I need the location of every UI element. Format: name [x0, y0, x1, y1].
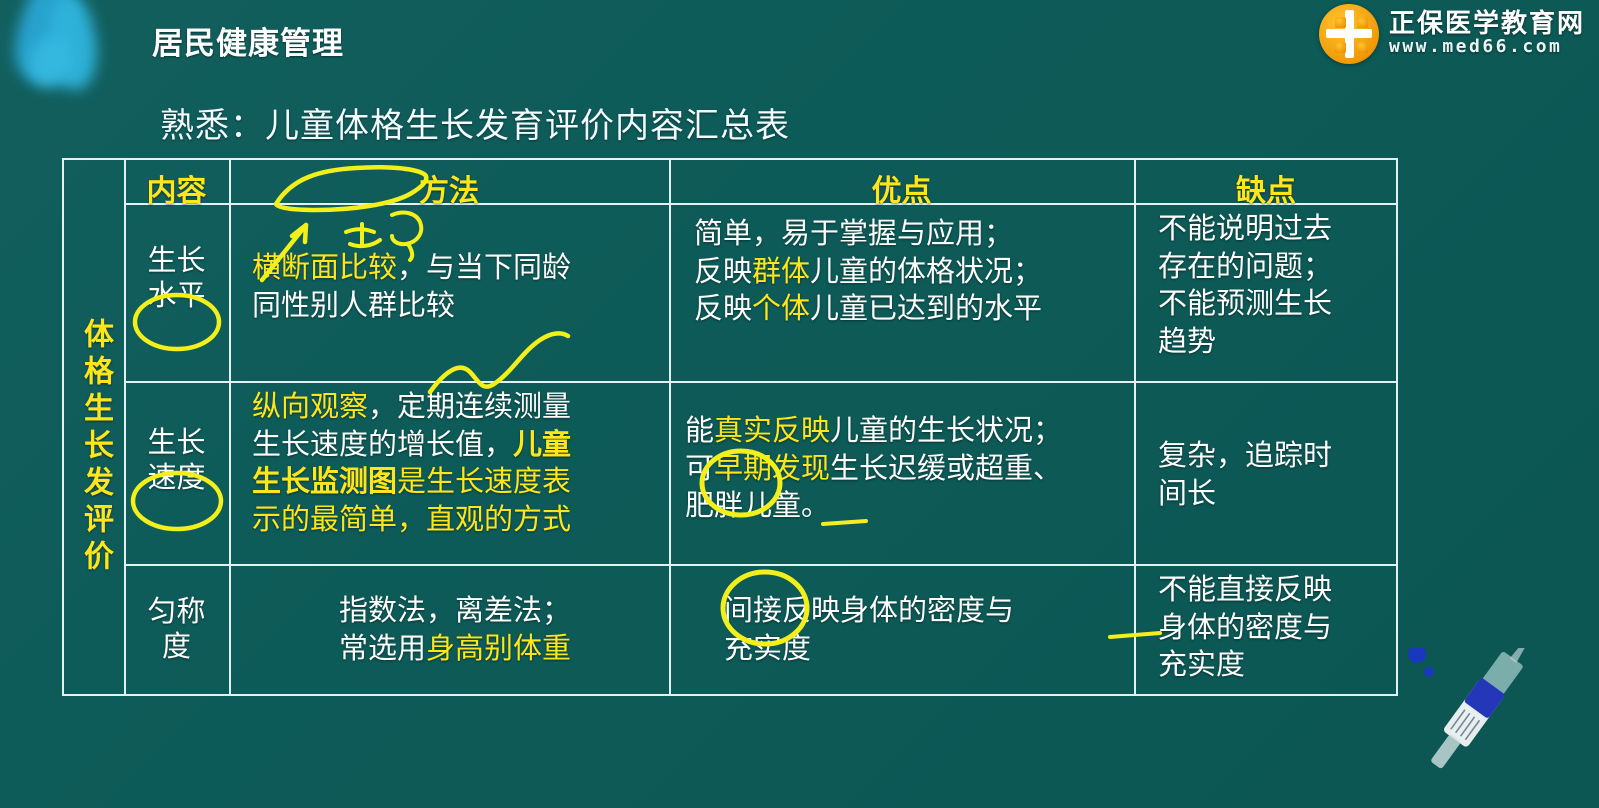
row3-m-a: 指数法，离差法； — [339, 593, 571, 627]
table-vline-2 — [229, 158, 231, 696]
row1-adv-seg: 简单，易于掌握与应用； — [694, 216, 1013, 250]
row3-method-line2: 常选用身高别体重 — [245, 630, 665, 668]
row2-a-e: 早期发现 — [714, 451, 830, 485]
row3-dis-line1: 不能直接反映 — [1158, 571, 1398, 609]
row3-content: 匀称 度 — [124, 594, 229, 665]
table-vline-4 — [1134, 158, 1136, 696]
row2-content-line2: 速度 — [124, 460, 229, 495]
row2-adv-line1: 能真实反映儿童的生长状况； — [685, 412, 1131, 450]
row2-adv-line2: 可早期发现生长迟缓或超重、 — [685, 450, 1131, 488]
row3-m-c: 身高别体重 — [426, 631, 571, 665]
row1-method-rest: ，与当下同龄 — [397, 250, 571, 284]
cross-notch-icon — [1335, 17, 1346, 28]
row2-a-d: 可 — [685, 451, 714, 485]
row1-adv-seg-f: 儿童已达到的水平 — [810, 291, 1042, 325]
row3-dis-line2: 身体的密度与 — [1158, 609, 1398, 647]
row3-method: 指数法，离差法； 常选用身高别体重 — [245, 592, 665, 667]
row1-content-line2: 水平 — [124, 278, 229, 313]
row1-content-line1: 生长 — [124, 243, 229, 278]
row2-m-g: 示的最简单，直观的方式 — [252, 502, 571, 536]
row3-content-line2: 度 — [124, 629, 229, 664]
row1-adv-seg-c: 儿童的体格状况； — [810, 254, 1042, 288]
row2-a-c: 儿童的生长状况； — [830, 413, 1062, 447]
row2-content: 生长 速度 — [124, 425, 229, 496]
row1-dis-line1: 不能说明过去 — [1158, 210, 1398, 248]
row1-adv-seg-a: 反映 — [694, 254, 752, 288]
row3-adv-line2: 充实度 — [724, 630, 1130, 668]
slide-canvas: 居民健康管理 熟悉：儿童体格生长发育评价内容汇总表 正保医学教育网 www.me… — [0, 0, 1599, 808]
row2-method-line3: 生长监测图是生长速度表 — [252, 463, 664, 501]
row2-a-f: 生长迟缓或超重、 — [830, 451, 1062, 485]
row2-advantage: 能真实反映儿童的生长状况； 可早期发现生长迟缓或超重、 肥胖儿童。 — [685, 412, 1131, 525]
row-group-label: 体格生长发评价 — [64, 200, 126, 694]
row2-dis-line2: 间长 — [1158, 475, 1398, 513]
row3-method-line1: 指数法，离差法； — [245, 592, 665, 630]
row2-m-f: 是生长速度表 — [397, 464, 571, 498]
cross-notch-icon-2 — [1357, 17, 1368, 28]
row2-a-b: 真实反映 — [714, 413, 830, 447]
cross-notch-icon-3 — [1335, 42, 1346, 53]
row2-a-g: 肥胖儿童。 — [685, 488, 830, 522]
row3-a-a: 间接反映身体的密度与 — [724, 593, 1014, 627]
row1-method: 横断面比较，与当下同龄 同性别人群比较 — [252, 249, 664, 324]
brand-text: 正保医学教育网 www.med66.com — [1389, 11, 1585, 57]
medical-cross-icon — [1319, 4, 1379, 64]
row2-a-a: 能 — [685, 413, 714, 447]
row2-m-d: 儿童 — [513, 427, 571, 461]
brand-url: www.med66.com — [1389, 38, 1585, 57]
page-title: 居民健康管理 — [152, 18, 344, 63]
row1-disadvantage: 不能说明过去 存在的问题； 不能预测生长 趋势 — [1158, 210, 1398, 361]
row1-method-line1: 横断面比较，与当下同龄 — [252, 249, 664, 287]
row2-m-e: 生长监测图 — [252, 464, 397, 498]
table-vline-3 — [669, 158, 671, 696]
table-header-content: 内容 — [124, 166, 229, 210]
row2-content-line1: 生长 — [124, 425, 229, 460]
row3-a-b: 充实度 — [724, 631, 811, 665]
row3-disadvantage: 不能直接反映 身体的密度与 充实度 — [1158, 571, 1398, 684]
row1-advantage: 简单，易于掌握与应用； 反映群体儿童的体格状况； 反映个体儿童已达到的水平 — [694, 215, 1130, 328]
row1-adv-line3: 反映个体儿童已达到的水平 — [694, 290, 1130, 328]
row1-adv-seg-d: 反映 — [694, 291, 752, 325]
row1-adv-seg-e: 个体 — [752, 291, 810, 325]
row1-adv-line2: 反映群体儿童的体格状况； — [694, 253, 1130, 291]
cross-notch-icon-4 — [1357, 42, 1368, 53]
row1-dis-line3: 不能预测生长 — [1158, 285, 1398, 323]
table-hline-row2 — [124, 564, 1398, 566]
row-group-label-text: 体格生长发评价 — [80, 318, 110, 577]
row2-m-b: ，定期连续测量 — [368, 389, 571, 423]
row2-adv-line3: 肥胖儿童。 — [685, 487, 1131, 525]
row2-m-a: 纵向观察 — [252, 389, 368, 423]
row1-adv-seg-b: 群体 — [752, 254, 810, 288]
table-hline-row1 — [124, 381, 1398, 383]
brand-name: 正保医学教育网 — [1389, 11, 1585, 38]
table-header-disadvantage: 缺点 — [1134, 166, 1398, 210]
row3-adv-line1: 间接反映身体的密度与 — [724, 592, 1130, 630]
row1-method-hl: 横断面比较 — [252, 250, 397, 284]
stylus-pen-icon — [1395, 648, 1585, 808]
page-subtitle: 熟悉：儿童体格生长发育评价内容汇总表 — [160, 98, 790, 147]
row2-m-c: 生长速度的增长值， — [252, 427, 513, 461]
row3-advantage: 间接反映身体的密度与 充实度 — [724, 592, 1130, 667]
brand-logo: 正保医学教育网 www.med66.com — [1319, 4, 1585, 64]
row1-dis-line2: 存在的问题； — [1158, 248, 1398, 286]
row1-dis-line4: 趋势 — [1158, 323, 1398, 361]
table-header-advantage: 优点 — [669, 166, 1134, 210]
row3-m-b: 常选用 — [339, 631, 426, 665]
row2-dis-line1: 复杂，追踪时 — [1158, 437, 1398, 475]
row3-dis-line3: 充实度 — [1158, 646, 1398, 684]
row1-adv-line1: 简单，易于掌握与应用； — [694, 215, 1130, 253]
row2-disadvantage: 复杂，追踪时 间长 — [1158, 437, 1398, 512]
row1-method-line2: 同性别人群比较 — [252, 287, 664, 325]
row1-content: 生长 水平 — [124, 243, 229, 314]
row2-method-line4: 示的最简单，直观的方式 — [252, 501, 664, 539]
row2-method-line1: 纵向观察，定期连续测量 — [252, 388, 664, 426]
row3-content-line1: 匀称 — [124, 594, 229, 629]
table-header-method: 方法 — [229, 166, 669, 210]
row2-method: 纵向观察，定期连续测量 生长速度的增长值，儿童 生长监测图是生长速度表 示的最简… — [252, 388, 664, 539]
row2-method-line2: 生长速度的增长值，儿童 — [252, 426, 664, 464]
